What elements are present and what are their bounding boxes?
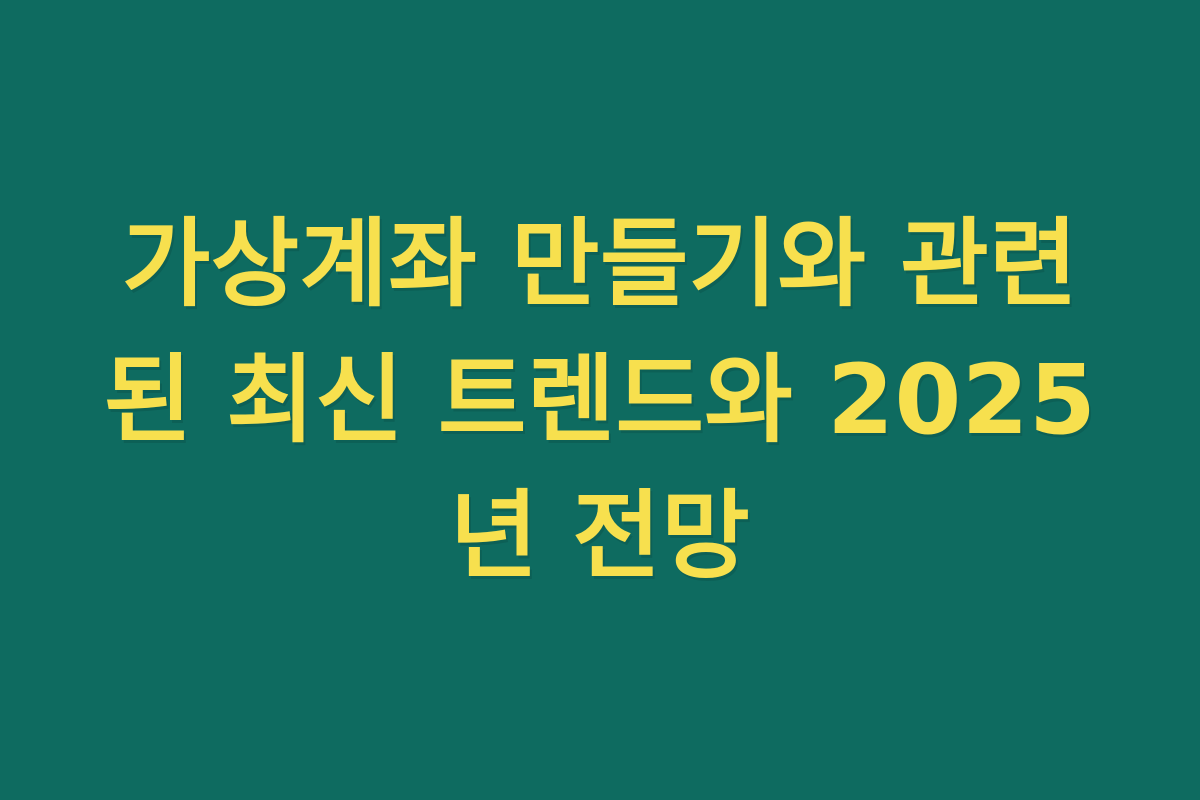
title-line-3: 년 전망 xyxy=(70,468,1130,604)
title-banner: 가상계좌 만들기와 관련 된 최신 트렌드와 2025 년 전망 xyxy=(0,0,1200,800)
page-title: 가상계좌 만들기와 관련 된 최신 트렌드와 2025 년 전망 xyxy=(70,196,1130,605)
title-line-1: 가상계좌 만들기와 관련 xyxy=(70,196,1130,332)
title-line-2: 된 최신 트렌드와 2025 xyxy=(70,332,1130,468)
